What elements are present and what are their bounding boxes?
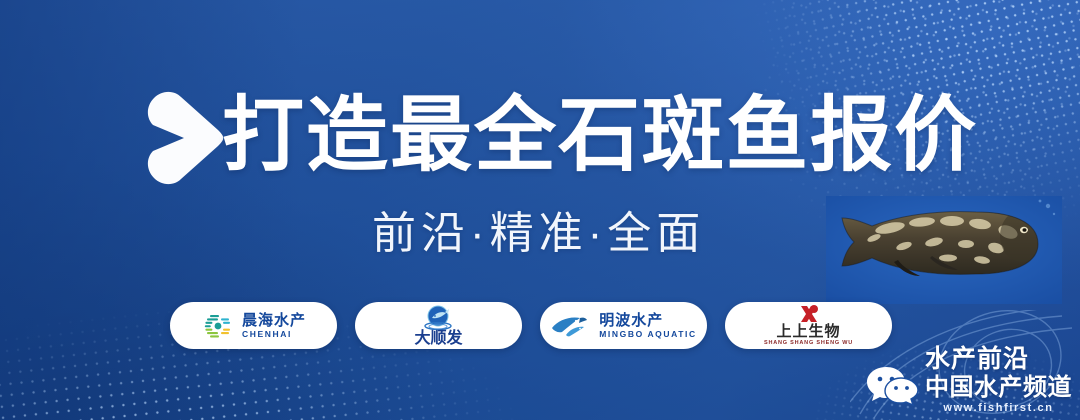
chenhai-c-mark-icon [201, 309, 235, 343]
wechat-icon [865, 364, 919, 408]
sponsor-badge-row: 晨海水产 CHENHAI 大顺发 [170, 302, 892, 349]
promo-banner: 打造最全石斑鱼报价 前沿·精准·全面 [0, 0, 1080, 420]
mingbo-twin-fish-icon [550, 312, 592, 340]
sponsor-badge-mingbo[interactable]: 明波水产 MINGBO AQUATIC [540, 302, 707, 349]
dashunfa-fish-globe-icon [422, 305, 454, 331]
sponsor-name-cn: 上上生物 [776, 324, 840, 339]
sponsor-name-en: CHENHAI [242, 330, 306, 339]
page-subtitle: 前沿·精准·全面 [372, 205, 705, 263]
page-title: 打造最全石斑鱼报价 [222, 86, 978, 186]
chevron-right-icon [140, 88, 226, 188]
watermark-channel: 中国水产频道 [925, 376, 1072, 400]
sponsor-badge-shangshang[interactable]: 上上生物 SHANG SHANG SHENG WU [725, 302, 892, 349]
sponsor-name-cn: 明波水产 [599, 313, 696, 328]
watermark-url: www.fishfirst.cn [943, 403, 1053, 414]
sponsor-name-en: MINGBO AQUATIC [599, 330, 696, 339]
sponsor-name-cn: 大顺发 [414, 331, 462, 347]
sponsor-badge-chenhai[interactable]: 晨海水产 CHENHAI [170, 302, 337, 349]
sponsor-badge-dashunfa[interactable]: 大顺发 [355, 302, 522, 349]
shangshang-x-mark-icon [794, 304, 824, 324]
sponsor-name-cn: 晨海水产 [242, 313, 306, 328]
sponsor-name-en: SHANG SHANG SHENG WU [764, 341, 853, 347]
watermark: 水产前沿 中国水产频道 www.fishfirst.cn [865, 347, 1072, 414]
watermark-brand: 水产前沿 [925, 347, 1029, 372]
